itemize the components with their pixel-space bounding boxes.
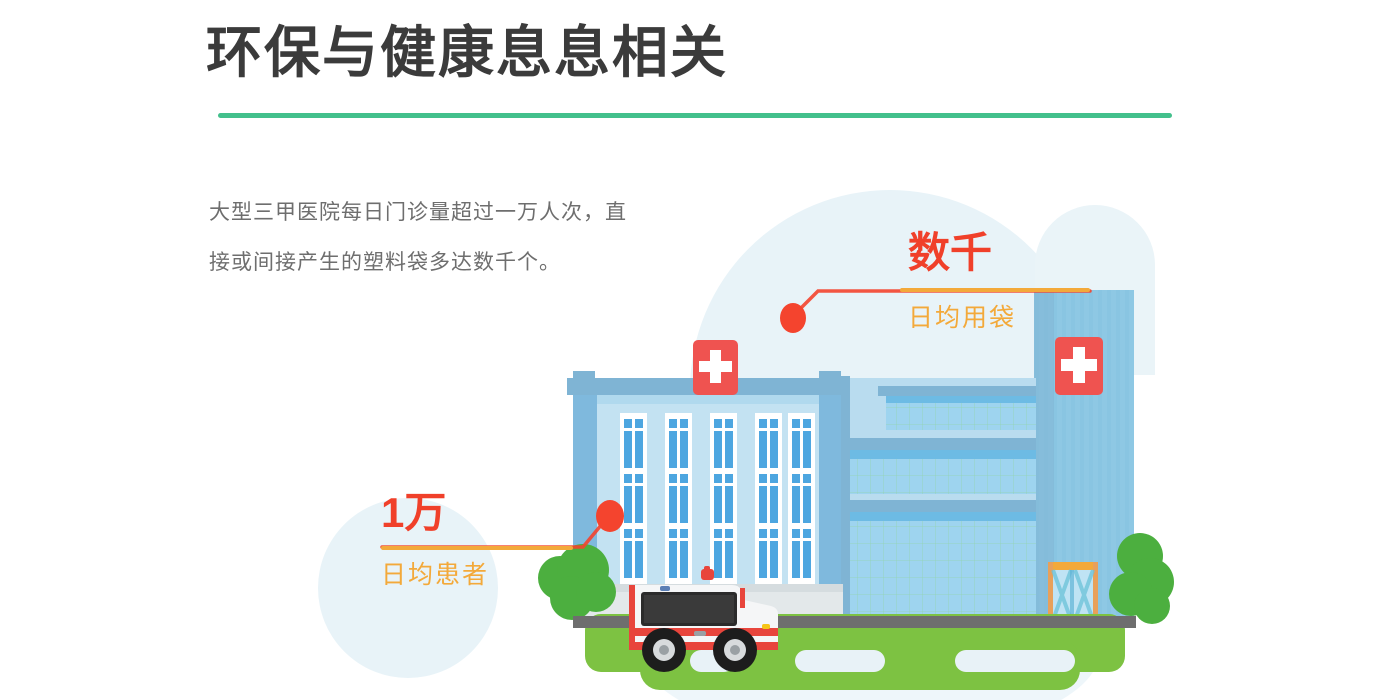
tower-entrance: [1048, 562, 1098, 620]
callout-daily-bags[interactable]: 数千 日均用袋: [900, 232, 1090, 331]
red-cross-roof-sign: [693, 340, 738, 395]
callout-daily-bags-label: 日均用袋: [900, 306, 1090, 331]
hospital-mid-block: [820, 376, 1036, 620]
callout-daily-patients-value: 1万: [381, 492, 573, 534]
callout-marker-daily-patients[interactable]: [596, 500, 624, 532]
hospital-illustration: [0, 0, 1400, 700]
callout-daily-patients-label: 日均患者: [381, 563, 573, 588]
callout-daily-bags-value: 数千: [900, 232, 1090, 274]
hospital-tower: [1034, 290, 1134, 620]
red-cross-tower-sign: [1055, 337, 1103, 395]
callout-daily-patients[interactable]: 1万 日均患者: [381, 492, 573, 588]
callout-daily-patients-rule: [381, 546, 573, 550]
callout-daily-bags-rule: [900, 288, 1090, 292]
infographic-slide: 环保与健康息息相关 大型三甲医院每日门诊量超过一万人次，直接或间接产生的塑料袋多…: [0, 0, 1400, 700]
callout-marker-daily-bags[interactable]: [780, 303, 806, 333]
